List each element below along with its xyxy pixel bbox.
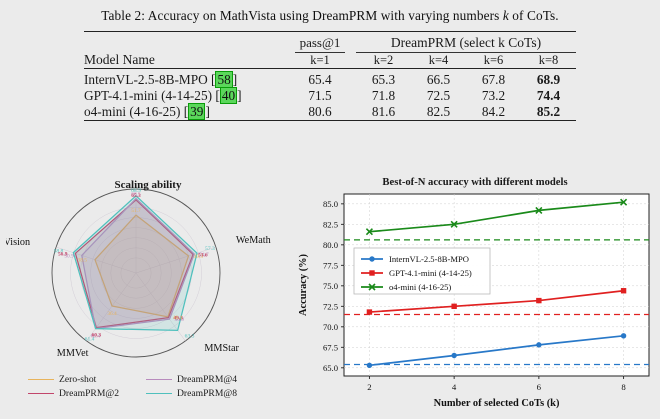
subheader-k4: k=4 <box>411 53 466 69</box>
citation-link[interactable]: 39 <box>188 103 205 120</box>
y-axis-tick-label: 65.0 <box>323 363 338 373</box>
cell-pass1: 80.6 <box>284 104 356 121</box>
data-point <box>367 309 372 314</box>
table-row: o4-mini (4-16-25) [39] 80.6 81.6 82.5 84… <box>84 104 576 121</box>
header-dreamprm-group-text: DreamPRM (select k CoTs) <box>356 35 576 53</box>
data-point <box>621 288 626 293</box>
radar-value-label: 36.4 <box>107 311 117 317</box>
x-axis-tick-label: 6 <box>537 382 542 392</box>
cell-k8: 85.2 <box>521 104 576 121</box>
radar-axis-label: MathVista <box>115 176 158 178</box>
cell-k2: 81.6 <box>356 104 411 121</box>
legend-label-zero-shot: Zero-shot <box>59 374 96 385</box>
line-chart-title: Best-of-N accuracy with different models <box>292 177 658 188</box>
y-axis-tick-label: 80.0 <box>323 240 338 250</box>
citation-link[interactable]: 58 <box>215 71 232 88</box>
table-caption: Table 2: Accuracy on MathVista using Dre… <box>0 8 660 24</box>
radar-legend: Zero-shot DreamPRM@4 DreamPRM@2 DreamPRM… <box>28 374 278 399</box>
data-point <box>451 304 456 309</box>
radar-value-label: 51.7 <box>131 208 141 214</box>
y-axis-tick-label: 77.5 <box>323 261 338 271</box>
header-model-name: Model Name <box>84 35 284 69</box>
x-axis-tick-label: 4 <box>452 382 457 392</box>
legend-swatch-zero-shot <box>28 379 54 380</box>
x-axis-title: Number of selected CoTs (k) <box>434 398 560 409</box>
radar-axis-label: MMStar <box>204 343 239 354</box>
charts-row: Scaling ability MathVistaWeMathMMStarMMV… <box>0 176 660 419</box>
radar-value-label: 49.3 <box>194 254 204 260</box>
radar-value-label: 65.3 <box>131 193 141 199</box>
row-model-label: InternVL-2.5-8B-MPO <box>84 72 208 87</box>
accuracy-table: Model Name pass@1 DreamPRM (select k CoT… <box>84 31 576 124</box>
radar-axis-label: MMVet <box>57 348 89 359</box>
radar-value-label: 38.5 <box>78 258 88 264</box>
caption-prefix: Table 2: Accuracy on MathVista using Dre… <box>101 8 503 23</box>
legend-label-dreamprm4: DreamPRM@4 <box>177 374 237 385</box>
table-row: GPT-4.1-mini (4-14-25) [40] 71.5 71.8 72… <box>84 88 576 104</box>
cell-k4: 72.5 <box>411 88 466 104</box>
subheader-k8: k=8 <box>521 53 576 69</box>
radar-axis-label: WeMath <box>236 235 271 246</box>
y-axis-tick-label: 85.0 <box>323 199 338 209</box>
line-legend-label: InternVL-2.5-8B-MPO <box>389 254 469 264</box>
y-axis-tick-label: 70.0 <box>323 322 338 332</box>
cell-k2: 71.8 <box>356 88 411 104</box>
header-pass-at-1-text: pass@1 <box>295 35 346 53</box>
radar-value-label: 60.3 <box>92 333 102 339</box>
legend-label-dreamprm8: DreamPRM@8 <box>177 388 237 399</box>
subheader-k6: k=6 <box>466 53 521 69</box>
cell-k6: 73.2 <box>466 88 521 104</box>
line-legend-label: GPT-4.1-mini (4-14-25) <box>389 268 472 278</box>
data-point <box>367 363 372 368</box>
radar-chart-panel: Scaling ability MathVistaWeMathMMStarMMV… <box>6 176 290 419</box>
y-axis-tick-label: 75.0 <box>323 281 338 291</box>
data-point <box>536 298 541 303</box>
table-row: InternVL-2.5-8B-MPO [58] 65.4 65.3 66.5 … <box>84 72 576 88</box>
y-axis-title: Accuracy (%) <box>298 254 309 316</box>
y-axis-tick-label: 82.5 <box>323 220 338 230</box>
data-point <box>621 333 626 338</box>
legend-item-dreamprm8[interactable]: DreamPRM@8 <box>146 388 274 399</box>
header-dreamprm-group: DreamPRM (select k CoTs) <box>356 35 576 53</box>
row-model-name: GPT-4.1-mini (4-14-25) [40] <box>84 88 284 104</box>
row-model-name: o4-mini (4-16-25) [39] <box>84 104 284 121</box>
cell-k8: 74.4 <box>521 88 576 104</box>
y-axis-tick-label: 72.5 <box>323 302 338 312</box>
cell-k6: 67.8 <box>466 72 521 88</box>
radar-value-label: 56.9 <box>58 251 68 257</box>
radar-chart-title: Scaling ability <box>6 179 290 191</box>
legend-item-dreamprm2[interactable]: DreamPRM@2 <box>28 388 146 399</box>
legend-item-zero-shot[interactable]: Zero-shot <box>28 374 146 385</box>
subheader-k1: k=1 <box>284 53 356 69</box>
legend-label-dreamprm2: DreamPRM@2 <box>59 388 119 399</box>
citation-link[interactable]: 40 <box>220 87 237 104</box>
caption-suffix: of CoTs. <box>509 8 559 23</box>
line-chart-panel: Best-of-N accuracy with different models… <box>292 176 658 419</box>
cell-k4: 82.5 <box>411 104 466 121</box>
legend-swatch-dreamprm2 <box>28 393 54 394</box>
y-axis-tick-label: 67.5 <box>323 343 338 353</box>
cell-k6: 84.2 <box>466 104 521 121</box>
radar-axis-label: MathVision <box>6 237 30 248</box>
x-axis-tick-label: 2 <box>367 382 371 392</box>
table-rule-bottom <box>84 121 576 125</box>
subheader-k2: k=2 <box>356 53 411 69</box>
cell-k8: 68.9 <box>521 72 576 88</box>
header-pass-at-1: pass@1 <box>284 35 356 53</box>
radar-chart-svg: MathVistaWeMathMMStarMMVetMathVision68.9… <box>6 176 290 376</box>
cell-pass1: 71.5 <box>284 88 356 104</box>
data-point <box>536 342 541 347</box>
x-axis-tick-label: 8 <box>621 382 626 392</box>
table-block: Table 2: Accuracy on MathVista using Dre… <box>0 8 660 124</box>
table-header-row: Model Name pass@1 DreamPRM (select k CoT… <box>84 35 576 53</box>
line-legend-label: o4-mini (4-16-25) <box>389 282 451 292</box>
data-point <box>451 353 456 358</box>
legend-swatch-dreamprm4 <box>146 379 172 380</box>
radar-value-label: 48.4 <box>173 315 183 321</box>
cell-k2: 65.3 <box>356 72 411 88</box>
legend-item-dreamprm4[interactable]: DreamPRM@4 <box>146 374 274 385</box>
line-chart-svg: 65.067.570.072.575.077.580.082.585.02468… <box>292 176 658 419</box>
row-model-label: o4-mini (4-16-25) <box>84 104 180 119</box>
cell-pass1: 65.4 <box>284 72 356 88</box>
legend-swatch-dreamprm8 <box>146 393 172 394</box>
row-model-label: GPT-4.1-mini (4-14-25) <box>84 88 212 103</box>
row-model-name: InternVL-2.5-8B-MPO [58] <box>84 72 284 88</box>
radar-value-label: 63.3 <box>185 333 195 339</box>
cell-k4: 66.5 <box>411 72 466 88</box>
